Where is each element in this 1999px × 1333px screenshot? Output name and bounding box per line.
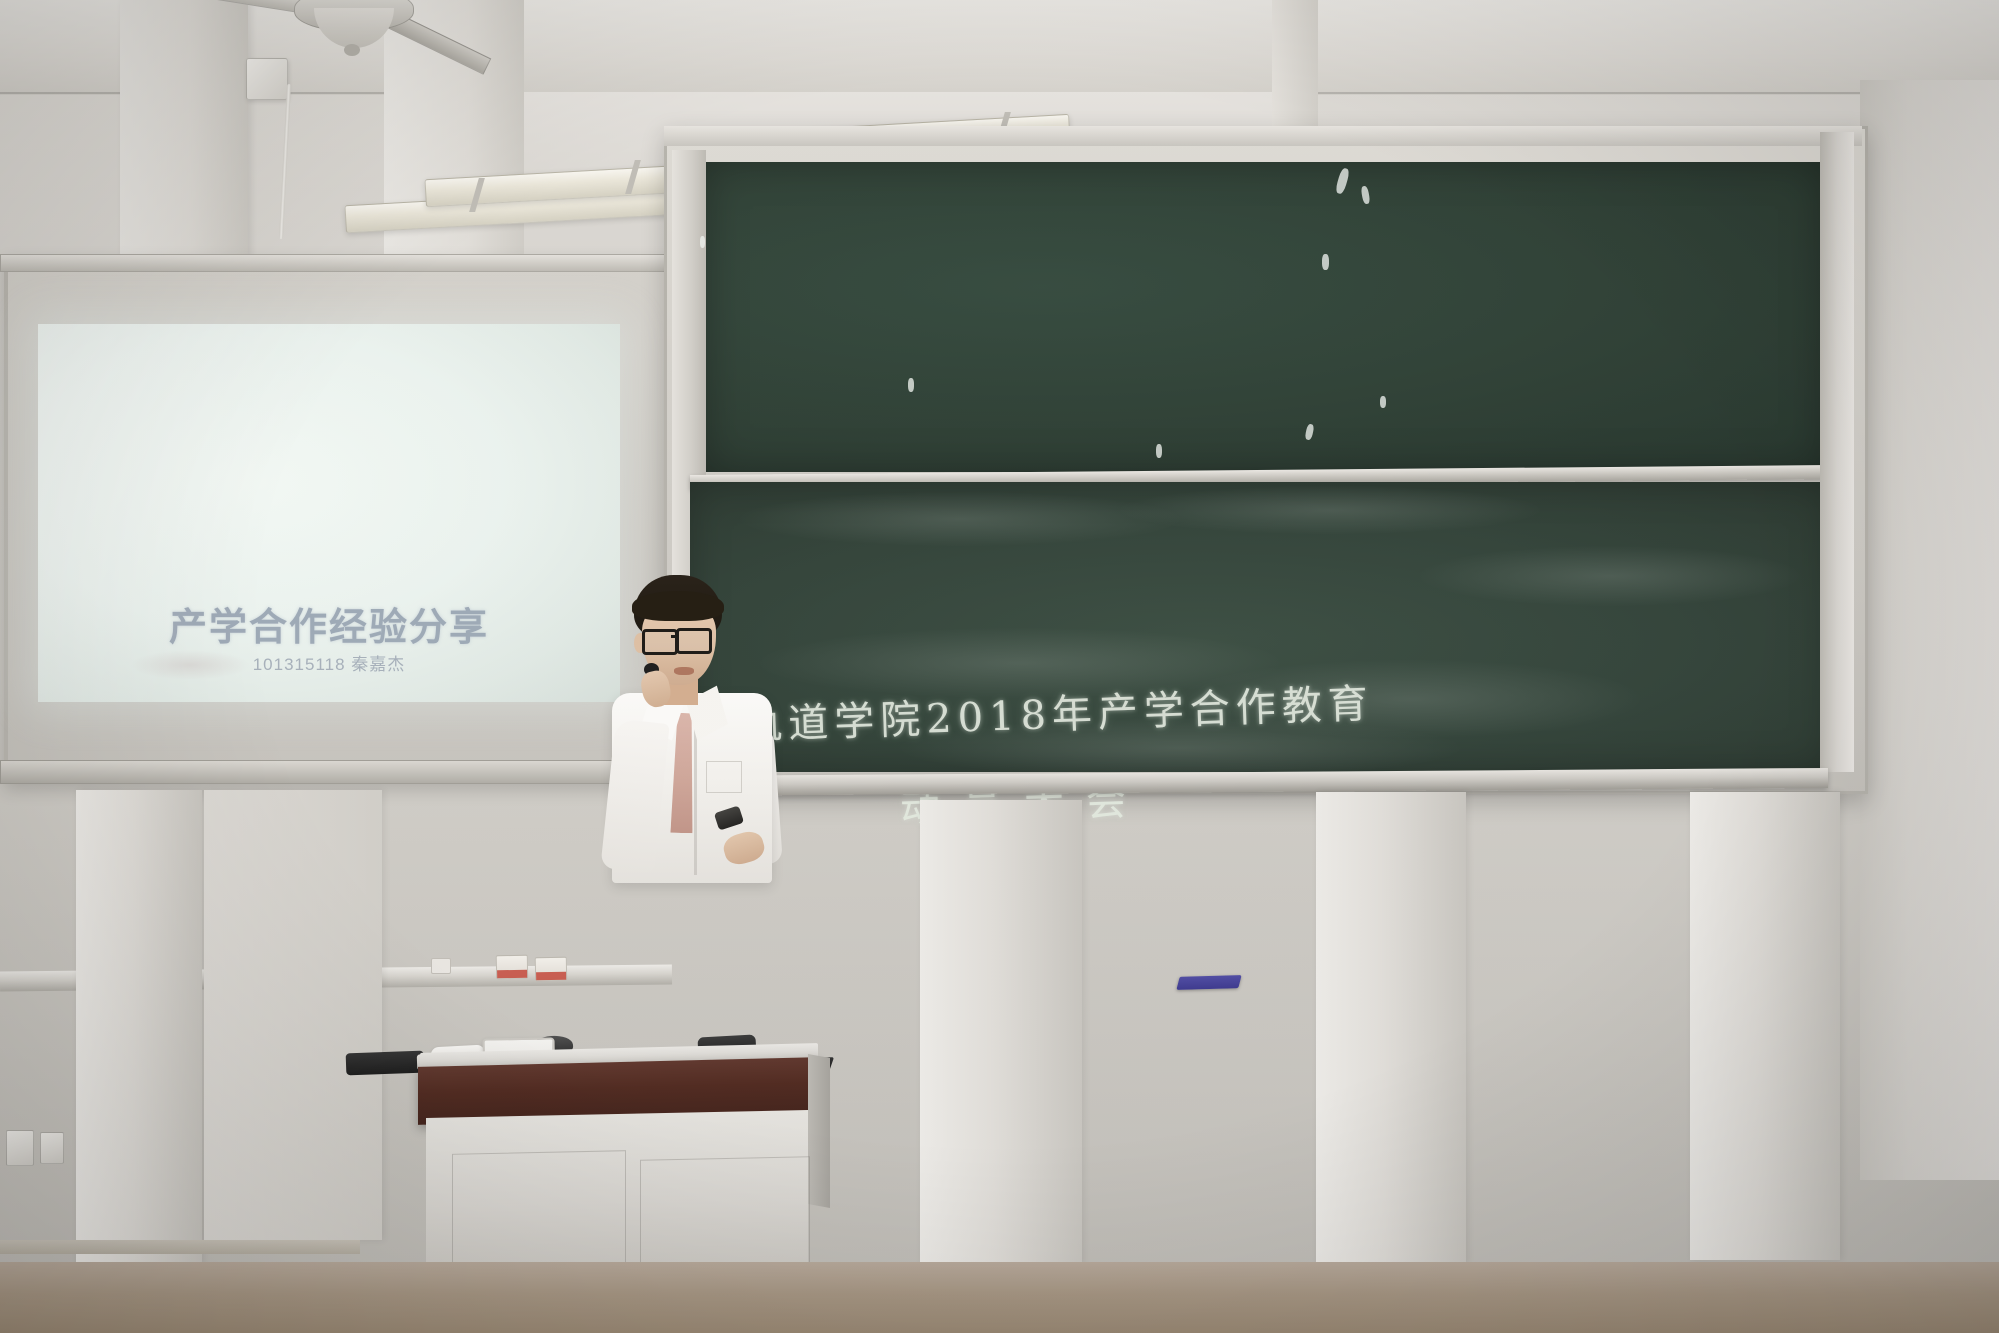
- chalk-box[interactable]: [496, 955, 528, 980]
- ceiling-fan: [196, 0, 516, 96]
- chalk-box[interactable]: [535, 957, 567, 982]
- blackboard-right-rail: [1820, 132, 1854, 772]
- right-wall-panel: [1860, 80, 1999, 1180]
- presenter-hair-fringe: [632, 591, 724, 621]
- screen-bottom-bar: [0, 760, 678, 784]
- fan-knob: [344, 44, 360, 56]
- blackboard-eraser[interactable]: [1176, 975, 1241, 990]
- chalk-mark: [1322, 254, 1329, 270]
- chalk-piece[interactable]: [431, 958, 451, 974]
- blackboard-panel-upper[interactable]: [706, 162, 1822, 472]
- wall-speaker: [246, 58, 288, 100]
- power-outlet[interactable]: [40, 1132, 64, 1164]
- slide-title: 产学合作经验分享: [38, 596, 620, 651]
- wall-pillar: [1316, 792, 1466, 1264]
- podium-bag[interactable]: [346, 1051, 425, 1076]
- presenter: [598, 575, 798, 875]
- wall-pillar: [204, 790, 382, 1240]
- fan-motor-housing: [314, 8, 394, 48]
- podium-side-panel: [808, 1054, 830, 1208]
- chalk-box-stripe: [497, 970, 527, 979]
- classroom-photo: 产学合作经验分享 101315118 秦嘉杰 轨道学院2018年产学合作教育 动…: [0, 0, 1999, 1333]
- blackboard-top-rail: [664, 126, 1862, 146]
- screen-top-roller: [0, 254, 678, 272]
- chalk-mark: [1156, 444, 1162, 458]
- glasses-icon: [676, 628, 712, 654]
- presenter-mouth: [674, 667, 694, 675]
- slide-subtitle: 101315118 秦嘉杰: [38, 650, 620, 675]
- power-outlet[interactable]: [6, 1130, 34, 1166]
- chalk-mark: [1380, 396, 1386, 408]
- wall-pillar: [1690, 792, 1840, 1260]
- chalk-mark: [908, 378, 914, 392]
- shirt-placket: [694, 725, 697, 875]
- wall-pillar: [76, 790, 202, 1265]
- shirt-pocket: [706, 761, 742, 793]
- glasses-icon: [642, 629, 678, 655]
- glasses-bridge: [671, 635, 679, 638]
- chalk-mark: [700, 236, 705, 248]
- floor: [0, 1262, 1999, 1333]
- wall-pillar: [920, 800, 1082, 1265]
- chalk-box-stripe: [536, 972, 566, 981]
